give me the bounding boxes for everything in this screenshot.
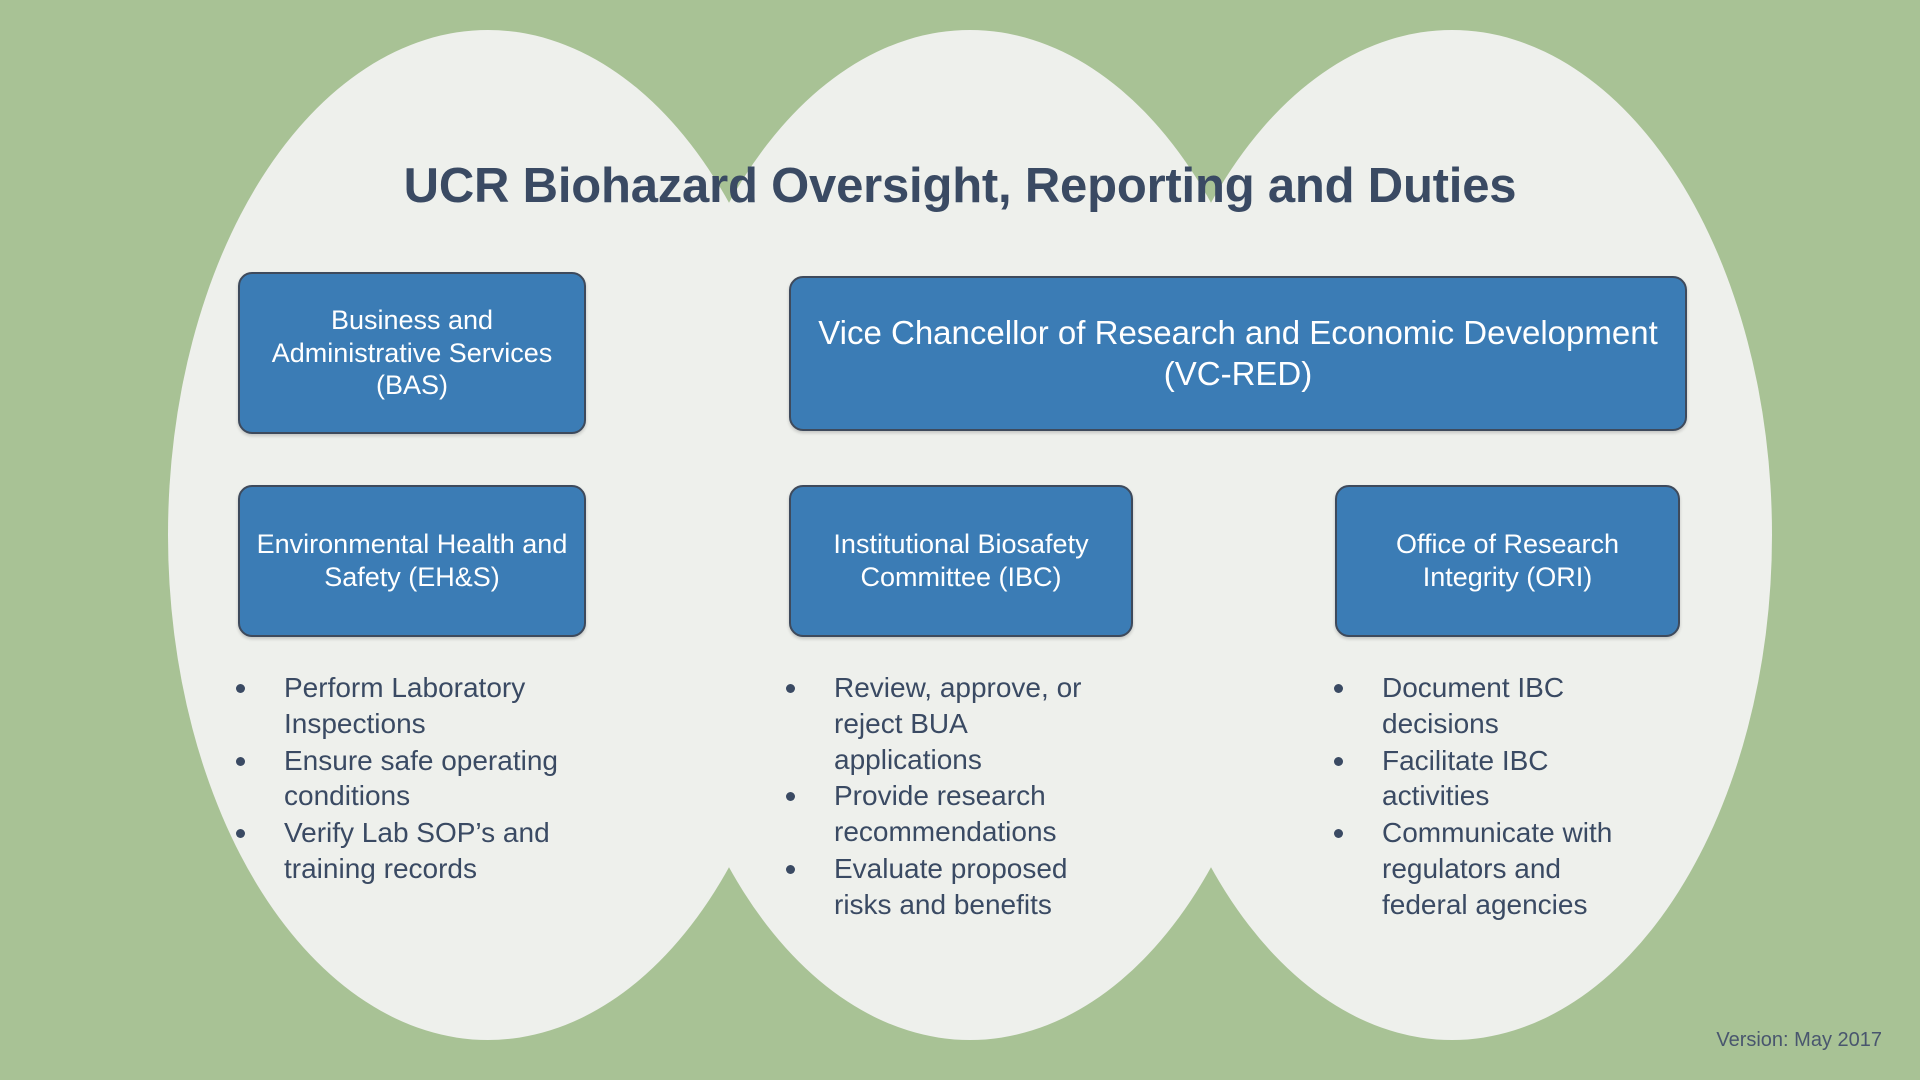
org-box-ibc[interactable]: Institutional Biosafety Committee (IBC) xyxy=(789,485,1133,637)
duties-list-ehs: Perform Laboratory Inspections Ensure sa… xyxy=(232,670,562,888)
list-item-text: Verify Lab SOP’s and training records xyxy=(284,817,550,884)
list-item: Ensure safe operating conditions xyxy=(232,743,562,815)
org-box-bas-label: Business and Administrative Services (BA… xyxy=(250,304,574,403)
org-box-ibc-label: Institutional Biosafety Committee (IBC) xyxy=(801,528,1121,594)
list-item: Facilitate IBC activities xyxy=(1330,743,1630,815)
bullet-dot-icon xyxy=(786,684,795,693)
bullet-dot-icon xyxy=(786,865,795,874)
list-item-text: Provide research recommendations xyxy=(834,780,1057,847)
bullet-dot-icon xyxy=(236,829,245,838)
list-item: Provide research recommendations xyxy=(782,778,1092,850)
list-item-text: Perform Laboratory Inspections xyxy=(284,672,525,739)
org-box-vcred[interactable]: Vice Chancellor of Research and Economic… xyxy=(789,276,1687,431)
bullet-dot-icon xyxy=(236,684,245,693)
org-box-ori[interactable]: Office of Research Integrity (ORI) xyxy=(1335,485,1680,637)
list-item-text: Review, approve, or reject BUA applicati… xyxy=(834,672,1081,775)
page-title: UCR Biohazard Oversight, Reporting and D… xyxy=(0,158,1920,214)
duties-list-ibc: Review, approve, or reject BUA applicati… xyxy=(782,670,1092,924)
org-box-vcred-label: Vice Chancellor of Research and Economic… xyxy=(801,313,1675,394)
list-item: Verify Lab SOP’s and training records xyxy=(232,815,562,887)
version-stamp: Version: May 2017 xyxy=(1716,1029,1882,1052)
org-box-ehs-label: Environmental Health and Safety (EH&S) xyxy=(250,528,574,594)
list-item: Document IBC decisions xyxy=(1330,670,1630,742)
bullet-dot-icon xyxy=(236,757,245,766)
org-box-bas[interactable]: Business and Administrative Services (BA… xyxy=(238,272,586,434)
slide-canvas: UCR Biohazard Oversight, Reporting and D… xyxy=(0,0,1920,1080)
list-item-text: Document IBC decisions xyxy=(1382,672,1564,739)
duties-list-ori: Document IBC decisions Facilitate IBC ac… xyxy=(1330,670,1630,924)
bullet-dot-icon xyxy=(1334,684,1343,693)
bullet-dot-icon xyxy=(786,792,795,801)
list-item-text: Communicate with regulators and federal … xyxy=(1382,817,1612,920)
bullet-dot-icon xyxy=(1334,829,1343,838)
list-item: Communicate with regulators and federal … xyxy=(1330,815,1630,922)
org-box-ehs[interactable]: Environmental Health and Safety (EH&S) xyxy=(238,485,586,637)
org-box-ori-label: Office of Research Integrity (ORI) xyxy=(1347,528,1668,594)
list-item-text: Ensure safe operating conditions xyxy=(284,745,558,812)
list-item: Review, approve, or reject BUA applicati… xyxy=(782,670,1092,777)
list-item-text: Facilitate IBC activities xyxy=(1382,745,1549,812)
list-item: Evaluate proposed risks and benefits xyxy=(782,851,1092,923)
list-item: Perform Laboratory Inspections xyxy=(232,670,562,742)
bullet-dot-icon xyxy=(1334,757,1343,766)
list-item-text: Evaluate proposed risks and benefits xyxy=(834,853,1068,920)
